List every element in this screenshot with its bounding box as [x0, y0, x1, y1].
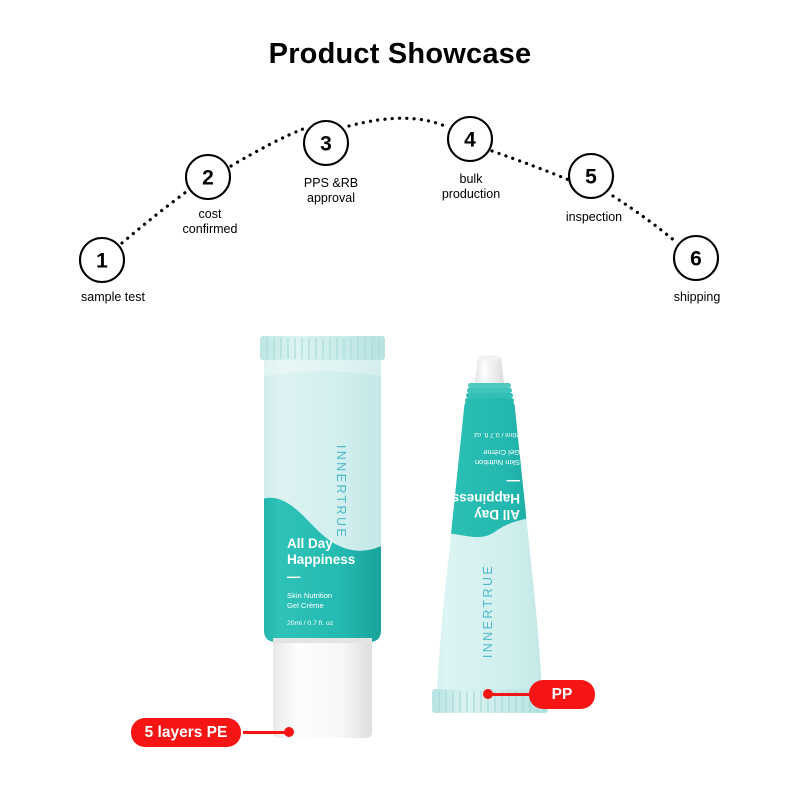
tube-left-desc-line2: Gel Crème: [287, 601, 324, 610]
flow-step-5-label: inspection: [566, 210, 622, 224]
tube-right-name-line1: All Day: [474, 507, 520, 522]
flow-step-1-number: 1: [96, 250, 108, 273]
callout-pe-leader-dot: [284, 727, 294, 737]
callout-pp-nozzle-leader-line: [490, 693, 532, 696]
flow-step-6-number: 6: [690, 248, 702, 271]
flow-step-1-label: sample test: [81, 290, 145, 304]
flow-step-1[interactable]: 1 sample test: [80, 238, 145, 304]
product-showcase-page: Product Showcase 1 sample test 2 cost co…: [0, 0, 800, 800]
flow-step-4-label-line2: production: [442, 187, 500, 201]
tube-left-volume: 20ml / 0.7 fl. oz: [287, 620, 334, 627]
product-tube-left-graphic: INNERTRUE All Day Happiness — Skin Nutri…: [250, 330, 395, 745]
tube-left-cap: [273, 638, 372, 738]
flow-step-5-number: 5: [585, 166, 597, 189]
tube-right-brand: INNERTRUE: [481, 564, 495, 658]
tube-left-name-line1: All Day: [287, 536, 333, 551]
flow-connector-4-5: [492, 151, 569, 180]
callout-5-layers-pe[interactable]: 5 layers PE: [131, 718, 241, 747]
flow-step-2-label-line1: cost: [199, 207, 222, 221]
tube-right-nozzle: [475, 355, 504, 383]
flow-step-4[interactable]: 4 bulk production: [442, 117, 500, 201]
flow-step-6[interactable]: 6 shipping: [674, 236, 721, 304]
tube-right-volume: 20ml / 0.7 fl. oz: [473, 431, 520, 438]
tube-right-name-line2: Happiness: [452, 491, 520, 506]
tube-left-desc-line1: Skin Nutrition: [287, 591, 332, 600]
callout-pe-leader-line: [243, 731, 289, 734]
flow-connector-2-3: [231, 129, 303, 166]
product-image-area: INNERTRUE All Day Happiness — Skin Nutri…: [0, 320, 800, 800]
flow-connector-3-4: [349, 118, 447, 127]
process-flow-chart: 1 sample test 2 cost confirmed 3 PPS &RB…: [0, 0, 800, 330]
tube-right-desc-line2: Gel Crème: [483, 448, 520, 457]
flow-step-3[interactable]: 3 PPS &RB approval: [304, 121, 358, 205]
flow-step-4-number: 4: [464, 129, 476, 152]
tube-right-desc-line1: Skin Nutrition: [475, 458, 520, 467]
tube-left-divider: —: [287, 569, 301, 584]
flow-connector-5-6: [613, 196, 676, 242]
flow-step-2-number: 2: [202, 167, 214, 190]
tube-left-crimp-seal: [260, 336, 385, 360]
flow-step-3-number: 3: [320, 133, 332, 156]
tube-right-divider: —: [506, 474, 520, 489]
tube-left-brand: INNERTRUE: [334, 445, 348, 539]
product-tube-left[interactable]: INNERTRUE All Day Happiness — Skin Nutri…: [250, 330, 395, 745]
callout-pp-nozzle[interactable]: PP: [529, 680, 595, 709]
flow-step-6-label: shipping: [674, 290, 721, 304]
flow-step-2[interactable]: 2 cost confirmed: [183, 155, 238, 236]
callout-pp-nozzle-label: PP: [552, 686, 573, 704]
flow-step-3-label-line1: PPS &RB: [304, 176, 358, 190]
flow-connector-1-2: [122, 192, 186, 243]
callout-5-layers-pe-label: 5 layers PE: [145, 724, 228, 742]
callout-pp-nozzle-leader-dot: [483, 689, 493, 699]
flow-step-4-label-line1: bulk: [460, 172, 484, 186]
flow-step-5[interactable]: 5 inspection: [566, 154, 622, 224]
flow-step-3-label-line2: approval: [307, 191, 355, 205]
flow-step-2-label-line2: confirmed: [183, 222, 238, 236]
tube-left-name-line2: Happiness: [287, 552, 355, 567]
